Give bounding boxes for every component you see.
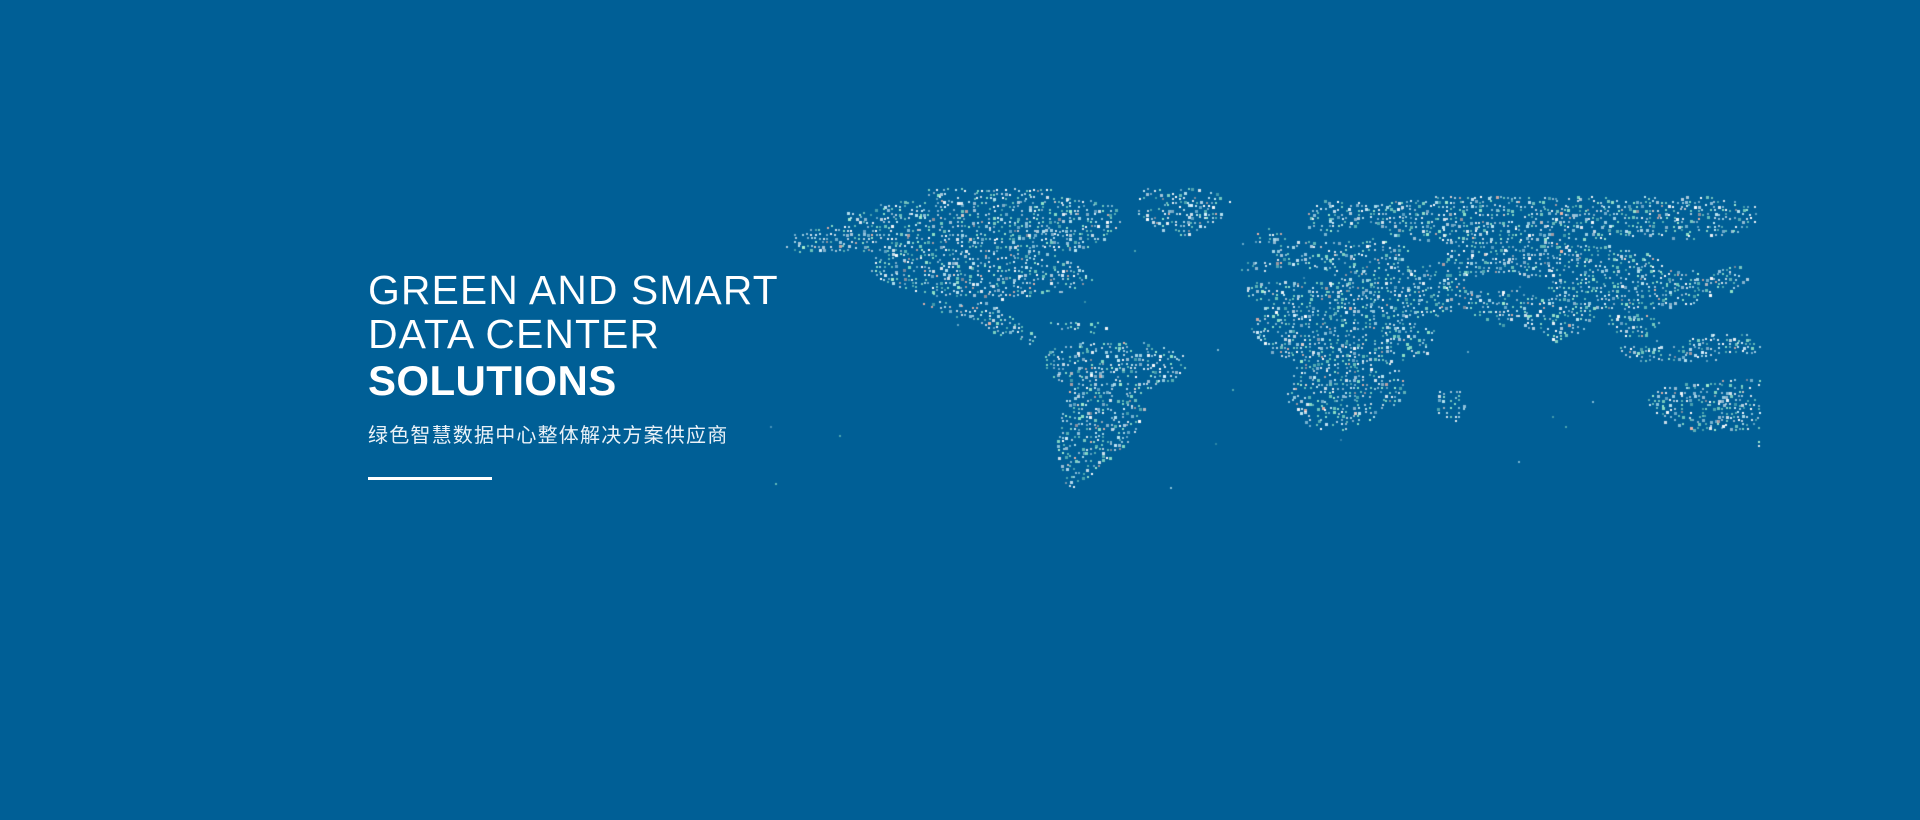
headline-line-3: SOLUTIONS	[368, 357, 1088, 405]
headline-line-1: GREEN AND SMART	[368, 268, 1088, 312]
headline-line-2: DATA CENTER	[368, 312, 1088, 356]
subtitle-chinese: 绿色智慧数据中心整体解决方案供应商	[368, 421, 1088, 449]
hero-banner: GREEN AND SMART DATA CENTER SOLUTIONS 绿色…	[0, 0, 1920, 820]
divider-rule	[368, 477, 492, 480]
headline-block: GREEN AND SMART DATA CENTER SOLUTIONS 绿色…	[368, 268, 1088, 480]
